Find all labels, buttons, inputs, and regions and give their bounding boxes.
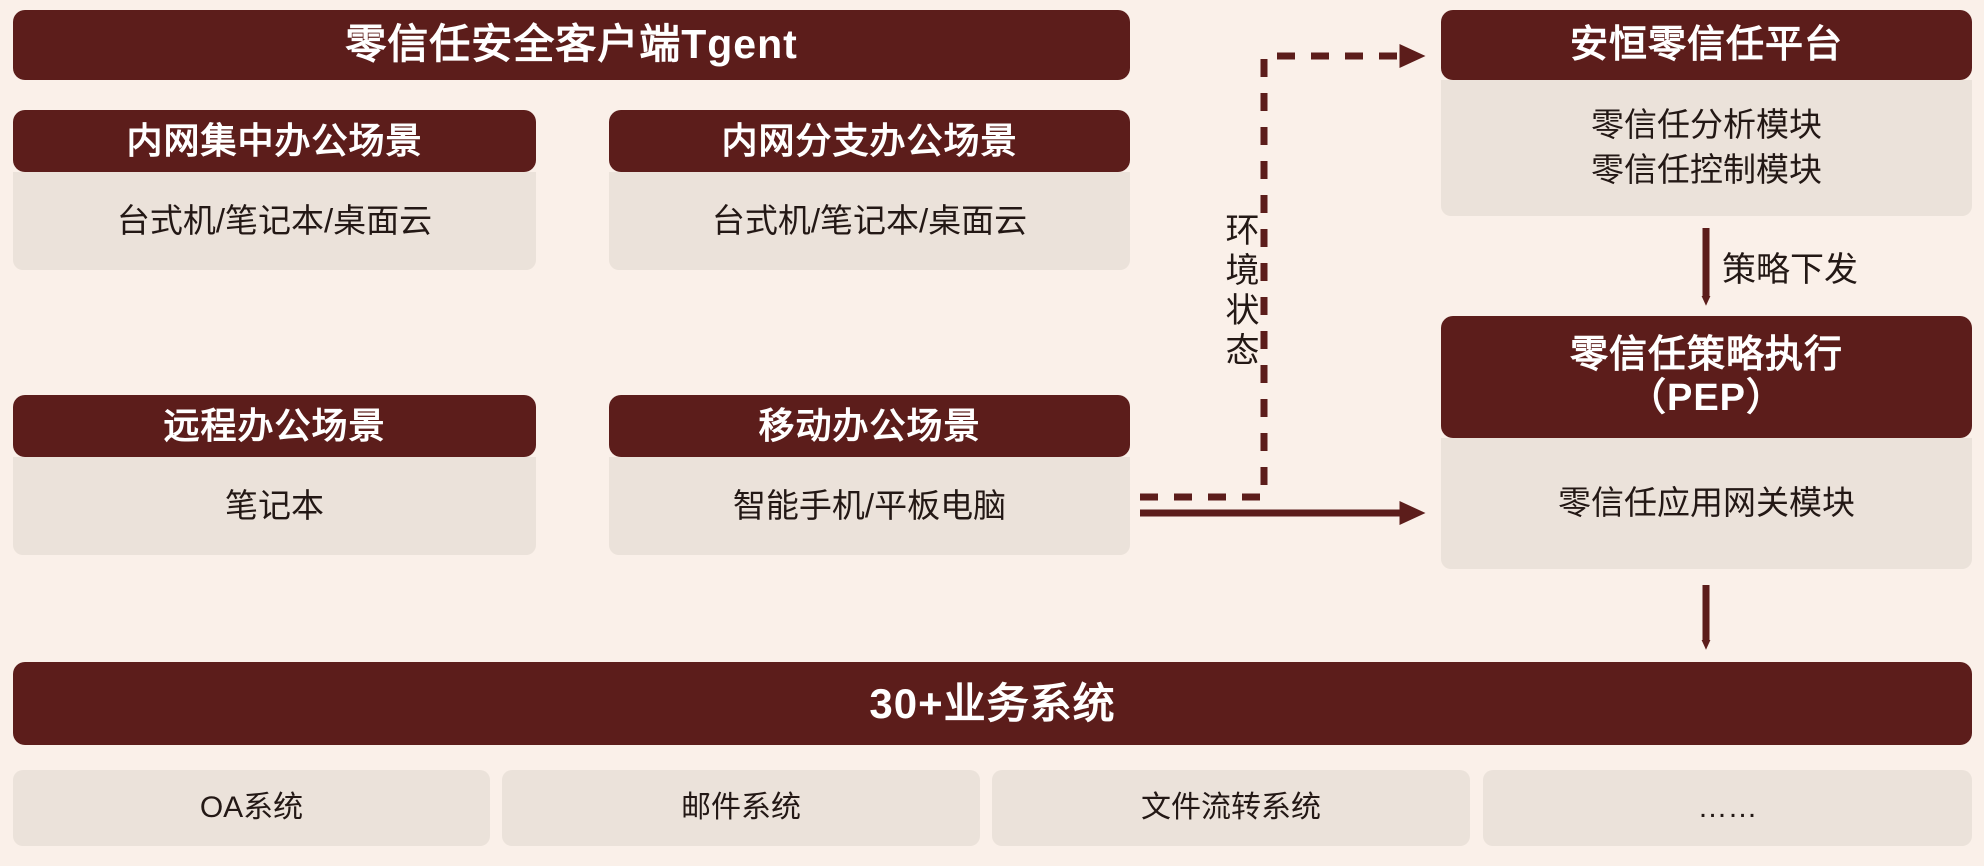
platform-module-control: 零信任控制模块 bbox=[1591, 148, 1822, 193]
env-state-label: 环境状态 bbox=[1214, 212, 1256, 372]
scenario-devices-mobile-office: 智能手机/平板电脑 bbox=[609, 457, 1130, 555]
env-state-dashed-connector bbox=[1140, 56, 1400, 497]
scenario-title-remote-office: 远程办公场景 bbox=[13, 395, 536, 457]
business-system-item: 邮件系统 bbox=[502, 770, 980, 846]
platform-module-analysis: 零信任分析模块 bbox=[1591, 103, 1822, 148]
pep-title-line-2: （PEP） bbox=[1628, 377, 1785, 420]
business-systems-banner: 30+业务系统 bbox=[13, 662, 1972, 745]
business-system-item: 文件流转系统 bbox=[992, 770, 1470, 846]
platform-modules-panel: 零信任分析模块 零信任控制模块 bbox=[1441, 80, 1972, 216]
client-header-banner: 零信任安全客户端Tgent bbox=[13, 10, 1130, 80]
scenario-devices-intranet-central: 台式机/笔记本/桌面云 bbox=[13, 172, 536, 270]
scenario-devices-remote-office: 笔记本 bbox=[13, 457, 536, 555]
scenario-devices-intranet-branch: 台式机/笔记本/桌面云 bbox=[609, 172, 1130, 270]
business-system-item: …… bbox=[1483, 770, 1972, 846]
scenario-title-mobile-office: 移动办公场景 bbox=[609, 395, 1130, 457]
pep-title-banner: 零信任策略执行 （PEP） bbox=[1441, 316, 1972, 438]
scenario-title-intranet-branch: 内网分支办公场景 bbox=[609, 110, 1130, 172]
pep-gateway-module-panel: 零信任应用网关模块 bbox=[1441, 438, 1972, 569]
scenario-title-intranet-central: 内网集中办公场景 bbox=[13, 110, 536, 172]
pep-title-line-1: 零信任策略执行 bbox=[1570, 334, 1843, 377]
platform-title-banner: 安恒零信任平台 bbox=[1441, 10, 1972, 80]
zero-trust-architecture-diagram: 零信任安全客户端Tgent 内网集中办公场景 台式机/笔记本/桌面云 内网分支办… bbox=[0, 0, 1984, 866]
policy-push-label: 策略下发 bbox=[1722, 242, 1858, 291]
business-system-item: OA系统 bbox=[13, 770, 490, 846]
